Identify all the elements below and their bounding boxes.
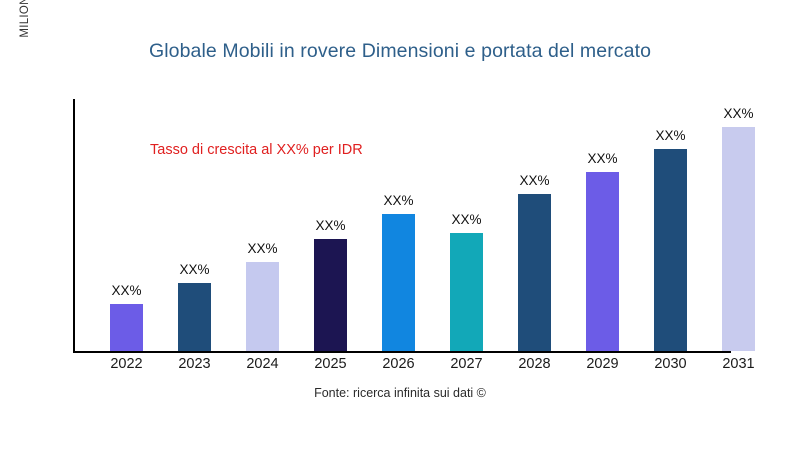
source-footer: Fonte: ricerca infinita sui dati © — [0, 386, 800, 400]
x-tick-2026: 2026 — [369, 356, 429, 372]
plot-area: XX%2022XX%2023XX%2024XX%2025XX%2026XX%20… — [0, 0, 800, 450]
bar-2026[interactable] — [382, 214, 415, 351]
bar-value-label-2030: XX% — [641, 128, 701, 143]
market-size-bar-chart: Globale Mobili in rovere Dimensioni e po… — [0, 0, 800, 450]
bar-value-label-2025: XX% — [301, 218, 361, 233]
bar-value-label-2026: XX% — [369, 193, 429, 208]
bar-2029[interactable] — [586, 172, 619, 351]
bar-value-label-2031: XX% — [709, 106, 769, 121]
bar-2030[interactable] — [654, 149, 687, 351]
bar-value-label-2023: XX% — [165, 262, 225, 277]
x-tick-2031: 2031 — [709, 356, 769, 372]
bar-value-label-2022: XX% — [97, 283, 157, 298]
bar-2023[interactable] — [178, 283, 211, 351]
bar-value-label-2028: XX% — [505, 173, 565, 188]
x-tick-2024: 2024 — [233, 356, 293, 372]
bar-value-label-2029: XX% — [573, 151, 633, 166]
bar-value-label-2024: XX% — [233, 241, 293, 256]
x-tick-2027: 2027 — [437, 356, 497, 372]
bar-2022[interactable] — [110, 304, 143, 351]
bar-2031[interactable] — [722, 127, 755, 351]
growth-rate-annotation: Tasso di crescita al XX% per IDR — [150, 142, 363, 158]
bar-value-label-2027: XX% — [437, 212, 497, 227]
bar-2028[interactable] — [518, 194, 551, 351]
x-tick-2025: 2025 — [301, 356, 361, 372]
x-tick-2023: 2023 — [165, 356, 225, 372]
x-tick-2029: 2029 — [573, 356, 633, 372]
bar-2027[interactable] — [450, 233, 483, 351]
x-tick-2022: 2022 — [97, 356, 157, 372]
x-tick-2030: 2030 — [641, 356, 701, 372]
x-tick-2028: 2028 — [505, 356, 565, 372]
bar-2025[interactable] — [314, 239, 347, 351]
bar-2024[interactable] — [246, 262, 279, 351]
